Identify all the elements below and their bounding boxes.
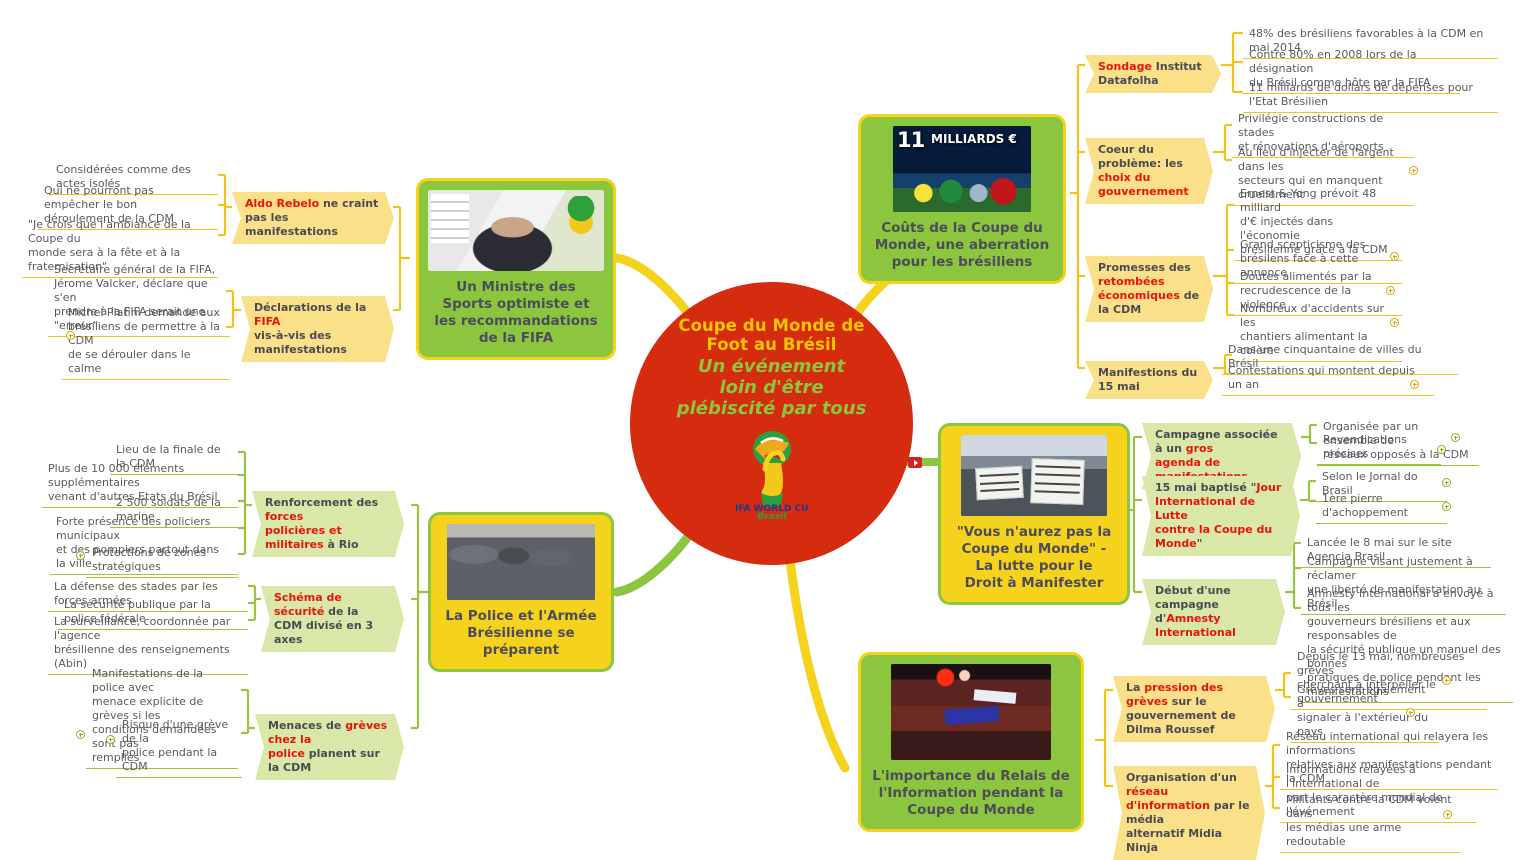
subtopic-amnesty-label-a: Début d'une campagne [1155, 584, 1231, 611]
expand-icon[interactable] [106, 735, 115, 744]
information-photo [891, 664, 1051, 760]
subtopic-pression-label-b: sur le [1168, 695, 1207, 708]
subtopic-declarations-fifa-label-a: Déclarations de la [254, 301, 366, 314]
subtopic-amnesty-label-hl: Amnesty International [1155, 612, 1236, 639]
police-photo [447, 524, 595, 600]
subtopic-reseau-label-hl: réseau [1126, 785, 1168, 798]
protest-photo [961, 435, 1107, 516]
expand-icon[interactable] [1386, 286, 1395, 295]
expand-icon[interactable] [1390, 252, 1399, 261]
expand-icon[interactable] [1437, 445, 1446, 454]
subtopic-coeur-probleme-label-hl: choix du gouvernement [1098, 171, 1189, 198]
leaf-note[interactable]: Michel Platini demande aux brésiliens de… [62, 304, 230, 380]
subtopic-schema-securite[interactable]: Schéma de sécurité de laCDM divisé en 3 … [261, 586, 404, 652]
subtopic-schema-label-b: CDM divisé en 3 axes [274, 619, 373, 646]
expand-icon[interactable] [1443, 810, 1452, 819]
subtopic-retombees-label-hl2: économiques [1098, 289, 1180, 302]
central-subtitle: Un événement loin d'être plébiscité par … [677, 356, 867, 419]
leaf-note[interactable]: 11 milliards de dollars de dépenses pour… [1243, 79, 1498, 113]
minister-photo [428, 190, 604, 271]
police-caption: La Police et l'Armée Brésilienne se prép… [445, 608, 596, 659]
subtopic-retombees-label-hl: retombées [1098, 275, 1165, 288]
fifa-world-cup-logo-icon: FIFA WORLD CUP Brasil [735, 427, 809, 519]
subtopic-pression-greves[interactable]: La pression des grèves sur legouvernemen… [1113, 676, 1275, 742]
main-topic-information[interactable]: L'importance du Relais de l'Information … [858, 652, 1084, 832]
subtopic-reseau-label-hl2: d'information [1126, 799, 1210, 812]
main-topic-minister[interactable]: Un Ministre des Sports optimiste et les … [416, 178, 616, 360]
central-topic[interactable]: Coupe du Monde de Foot au Brésil Un évén… [630, 282, 913, 565]
expand-icon[interactable] [1442, 502, 1451, 511]
leaf-note[interactable]: Risque d'une grève de la police pendant … [116, 716, 242, 778]
subtopic-reseau-label-c: alternatif Midia Ninja [1126, 827, 1222, 854]
subtopic-15-mai-jour[interactable]: 15 mai baptisé "JourInternational de Lut… [1142, 476, 1300, 556]
central-subtitle-line2: loin d'être [719, 377, 823, 398]
fifa-logo-text-2: Brasil [757, 512, 787, 519]
leaf-note[interactable]: Contestations qui montent depuis un an [1222, 362, 1434, 396]
costs-photo-label: MILLIARDS € [931, 132, 1017, 146]
subtopic-amnesty-campagne[interactable]: Début d'une campagned'Amnesty Internatio… [1142, 579, 1285, 645]
central-title: Coupe du Monde de Foot au Brésil [678, 316, 864, 354]
subtopic-declarations-fifa[interactable]: Déclarations de la FIFAvis-à-vis des man… [241, 296, 394, 362]
subtopic-coeur-probleme[interactable]: Coeur du problème: leschoix du gouvernem… [1085, 138, 1213, 204]
expand-icon[interactable] [1410, 380, 1419, 389]
protest-caption: "Vous n'aurez pas la Coupe du Monde" - L… [957, 524, 1111, 592]
main-topic-protest[interactable]: "Vous n'aurez pas la Coupe du Monde" - L… [938, 423, 1130, 605]
expand-icon[interactable] [1442, 478, 1451, 487]
subtopic-retombees-label-a: Promesses des [1098, 261, 1191, 274]
costs-caption: Coûts de la Coupe du Monde, une aberrati… [875, 220, 1049, 271]
subtopic-15mai-label-hl: Jour [1256, 481, 1281, 494]
leaf-note[interactable]: Protections de zones stratégiques [86, 544, 238, 578]
subtopic-reseau-information[interactable]: Organisation d'un réseaud'information pa… [1113, 766, 1265, 860]
subtopic-renforcement-label-b: à Rio [324, 538, 359, 551]
central-title-line2: Foot au Brésil [707, 335, 837, 354]
expand-icon[interactable] [76, 551, 85, 560]
subtopic-manifestions-15-mai[interactable]: Manifestions du 15 mai [1085, 361, 1213, 399]
costs-photo: 11 MILLIARDS € [893, 126, 1031, 212]
subtopic-menaces-label-hl2: police [268, 747, 305, 760]
expand-icon[interactable] [1442, 676, 1451, 685]
leaf-note[interactable]: Militants contre la CDM voient dans les … [1280, 791, 1460, 853]
subtopic-renforcement-label-hl: forces [265, 510, 303, 523]
information-caption: L'importance du Relais de l'Information … [872, 768, 1070, 819]
leaf-note[interactable]: Revendications précises [1317, 431, 1441, 465]
expand-icon[interactable] [66, 331, 75, 340]
costs-photo-number: 11 [897, 128, 924, 152]
subtopic-aldo-rebelo-label-hl: Aldo Rebelo [245, 197, 319, 210]
subtopic-schema-label-a: de la [324, 605, 358, 618]
subtopic-reseau-label-a: Organisation d'un [1126, 771, 1237, 784]
subtopic-sondage-label-hl: Sondage [1098, 60, 1152, 73]
subtopic-menaces-label-a: Menaces de [268, 719, 345, 732]
subtopic-15mai-label-hl3: contre la Coupe du Monde [1155, 523, 1272, 550]
expand-icon[interactable] [1406, 708, 1415, 717]
subtopic-renforcement-forces[interactable]: Renforcement des forcespolicières et mil… [252, 491, 404, 557]
central-subtitle-line3: plébiscité par tous [677, 398, 867, 419]
subtopic-aldo-rebelo[interactable]: Aldo Rebelo ne craint pas lesmanifestati… [232, 192, 394, 244]
subtopic-15mai-label-a: 15 mai baptisé " [1155, 481, 1256, 494]
subtopic-menaces-greves[interactable]: Menaces de grèves chez lapolice planent … [255, 714, 404, 780]
subtopic-campagne-label-hl: gros [1186, 442, 1213, 455]
expand-icon[interactable] [1390, 318, 1399, 327]
subtopic-aldo-rebelo-label-b: manifestations [245, 225, 338, 238]
subtopic-declarations-fifa-label-b: vis-à-vis des manifestations [254, 329, 347, 356]
main-topic-costs[interactable]: 11 MILLIARDS € Coûts de la Coupe du Mond… [858, 114, 1066, 284]
minister-caption: Un Ministre des Sports optimiste et les … [434, 279, 597, 347]
mindmap-canvas: Coupe du Monde de Foot au Brésil Un évén… [0, 0, 1536, 845]
subtopic-sondage[interactable]: Sondage Institut Datafolha [1085, 55, 1221, 93]
subtopic-amnesty-label-b: d' [1155, 612, 1166, 625]
subtopic-renforcement-label-a: Renforcement des [265, 496, 378, 509]
subtopic-coeur-probleme-label-a: Coeur du problème: les [1098, 143, 1183, 170]
subtopic-retombees[interactable]: Promesses des retombéeséconomiques de la… [1085, 256, 1213, 322]
subtopic-15mai-label-hl2: International de Lutte [1155, 495, 1255, 522]
expand-icon[interactable] [1451, 433, 1460, 442]
leaf-note[interactable]: 1ère pierre d'achoppement [1316, 490, 1447, 524]
expand-icon[interactable] [1409, 166, 1418, 175]
subtopic-15mai-label-b: " [1197, 537, 1203, 550]
central-title-line1: Coupe du Monde de [678, 316, 864, 335]
expand-icon[interactable] [76, 730, 85, 739]
central-subtitle-line1: Un événement [698, 356, 845, 377]
collapse-toggle-button[interactable] [908, 457, 922, 468]
main-topic-police[interactable]: La Police et l'Armée Brésilienne se prép… [428, 512, 614, 672]
subtopic-campagne-label-a: Campagne associée à un [1155, 428, 1278, 455]
subtopic-declarations-fifa-label-hl: FIFA [254, 315, 280, 328]
subtopic-manifestions-label: Manifestions du 15 mai [1098, 366, 1197, 393]
subtopic-pression-label-c: gouvernement de Dilma Roussef [1126, 709, 1236, 736]
subtopic-pression-label-a: La [1126, 681, 1144, 694]
